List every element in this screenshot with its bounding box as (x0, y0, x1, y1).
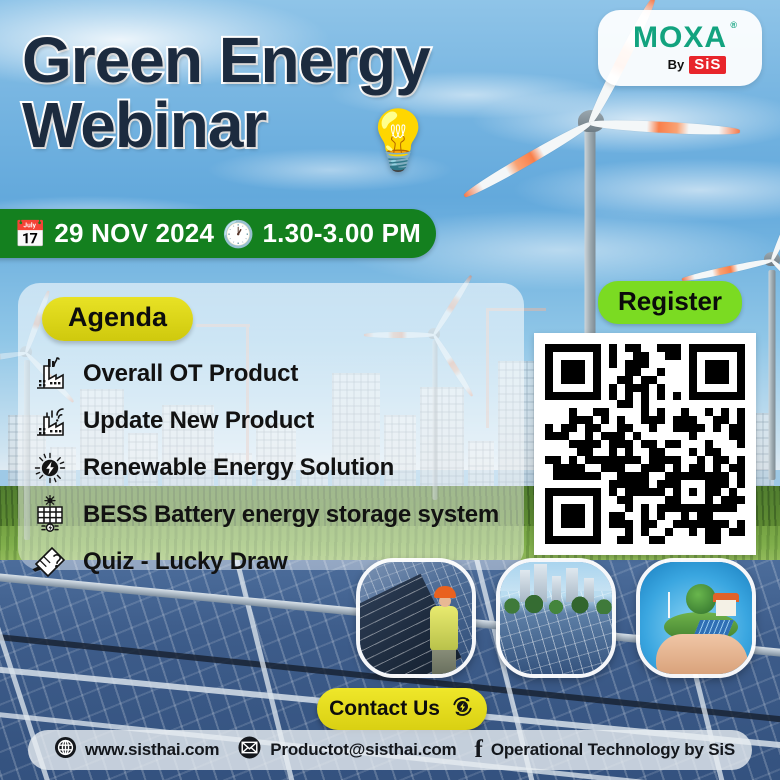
agenda-item-label: Quiz - Lucky Draw (83, 548, 288, 576)
agenda-item-overall-ot-product: Overall OT Product (30, 350, 530, 397)
register-button[interactable]: Register (598, 281, 742, 324)
clock-icon: 🕐 (222, 221, 254, 247)
qr-code-icon[interactable] (534, 333, 756, 555)
footer-website-label: www.sisthai.com (85, 740, 219, 760)
renewable-energy-bolt-icon (30, 448, 70, 488)
smart-factory-wifi-icon (30, 401, 70, 441)
agenda-item-label: Update New Product (83, 407, 314, 435)
footer-website[interactable]: www.sisthai.com (54, 736, 219, 764)
globe-icon (54, 736, 77, 764)
moxa-wordmark: MOXA ® (633, 23, 727, 53)
footer-email-label: Productot@sisthai.com (270, 740, 456, 760)
factory-icon (30, 354, 70, 394)
calendar-icon: 📅 (14, 221, 46, 247)
webinar-date: 29 NOV 2024 (54, 218, 214, 249)
moxa-brand-text: MOXA (633, 21, 727, 54)
page-title: Green Energy Webinar (22, 30, 542, 157)
agenda-heading: Agenda (42, 297, 193, 341)
agenda-item-label: Renewable Energy Solution (83, 454, 394, 482)
footer-facebook-label: Operational Technology by SiS (491, 740, 735, 760)
solar-battery-icon (30, 495, 70, 535)
qr-code-grid[interactable] (545, 344, 745, 544)
footer-email[interactable]: Productot@sisthai.com (237, 736, 456, 764)
title-line-1: Green Energy (22, 30, 542, 91)
photo-technician-solar-panels (356, 558, 476, 678)
agenda-item-label: Overall OT Product (83, 360, 298, 388)
photo-hand-eco-world (636, 558, 756, 678)
title-line-2: Webinar (22, 95, 542, 156)
webinar-poster: Green Energy Webinar 💡 MOXA ® By SiS 📅 2… (0, 0, 780, 780)
facebook-icon: f (474, 739, 482, 762)
quiz-pencil-icon (30, 542, 70, 582)
light-bulb-icon: 💡 (362, 112, 434, 170)
energy-cycle-bolt-icon (450, 694, 475, 724)
agenda-item-bess-battery-energy-storage: BESS Battery energy storage system (30, 491, 530, 538)
footer-facebook[interactable]: f Operational Technology by SiS (474, 739, 735, 762)
photo-solar-farm-city (496, 558, 616, 678)
logo-by-row: By SiS (668, 56, 727, 74)
datetime-banner: 📅 29 NOV 2024 🕐 1.30-3.00 PM (0, 209, 436, 258)
logo-by-label: By (668, 57, 685, 72)
sis-badge: SiS (689, 56, 726, 74)
moxa-by-sis-logo: MOXA ® By SiS (598, 10, 762, 86)
agenda-item-update-new-product: Update New Product (30, 397, 530, 444)
agenda-item-label: BESS Battery energy storage system (83, 501, 499, 529)
footer-contact-bar: www.sisthai.com Productot@sisthai.com f … (28, 730, 752, 770)
webinar-time: 1.30-3.00 PM (263, 218, 422, 249)
agenda-item-renewable-energy-solution: Renewable Energy Solution (30, 444, 530, 491)
agenda-list: Overall OT Product (30, 350, 530, 585)
contact-us-button[interactable]: Contact Us (317, 688, 487, 730)
registered-trademark-icon: ® (730, 21, 738, 30)
envelope-icon (237, 736, 262, 764)
contact-us-label: Contact Us (329, 697, 440, 721)
